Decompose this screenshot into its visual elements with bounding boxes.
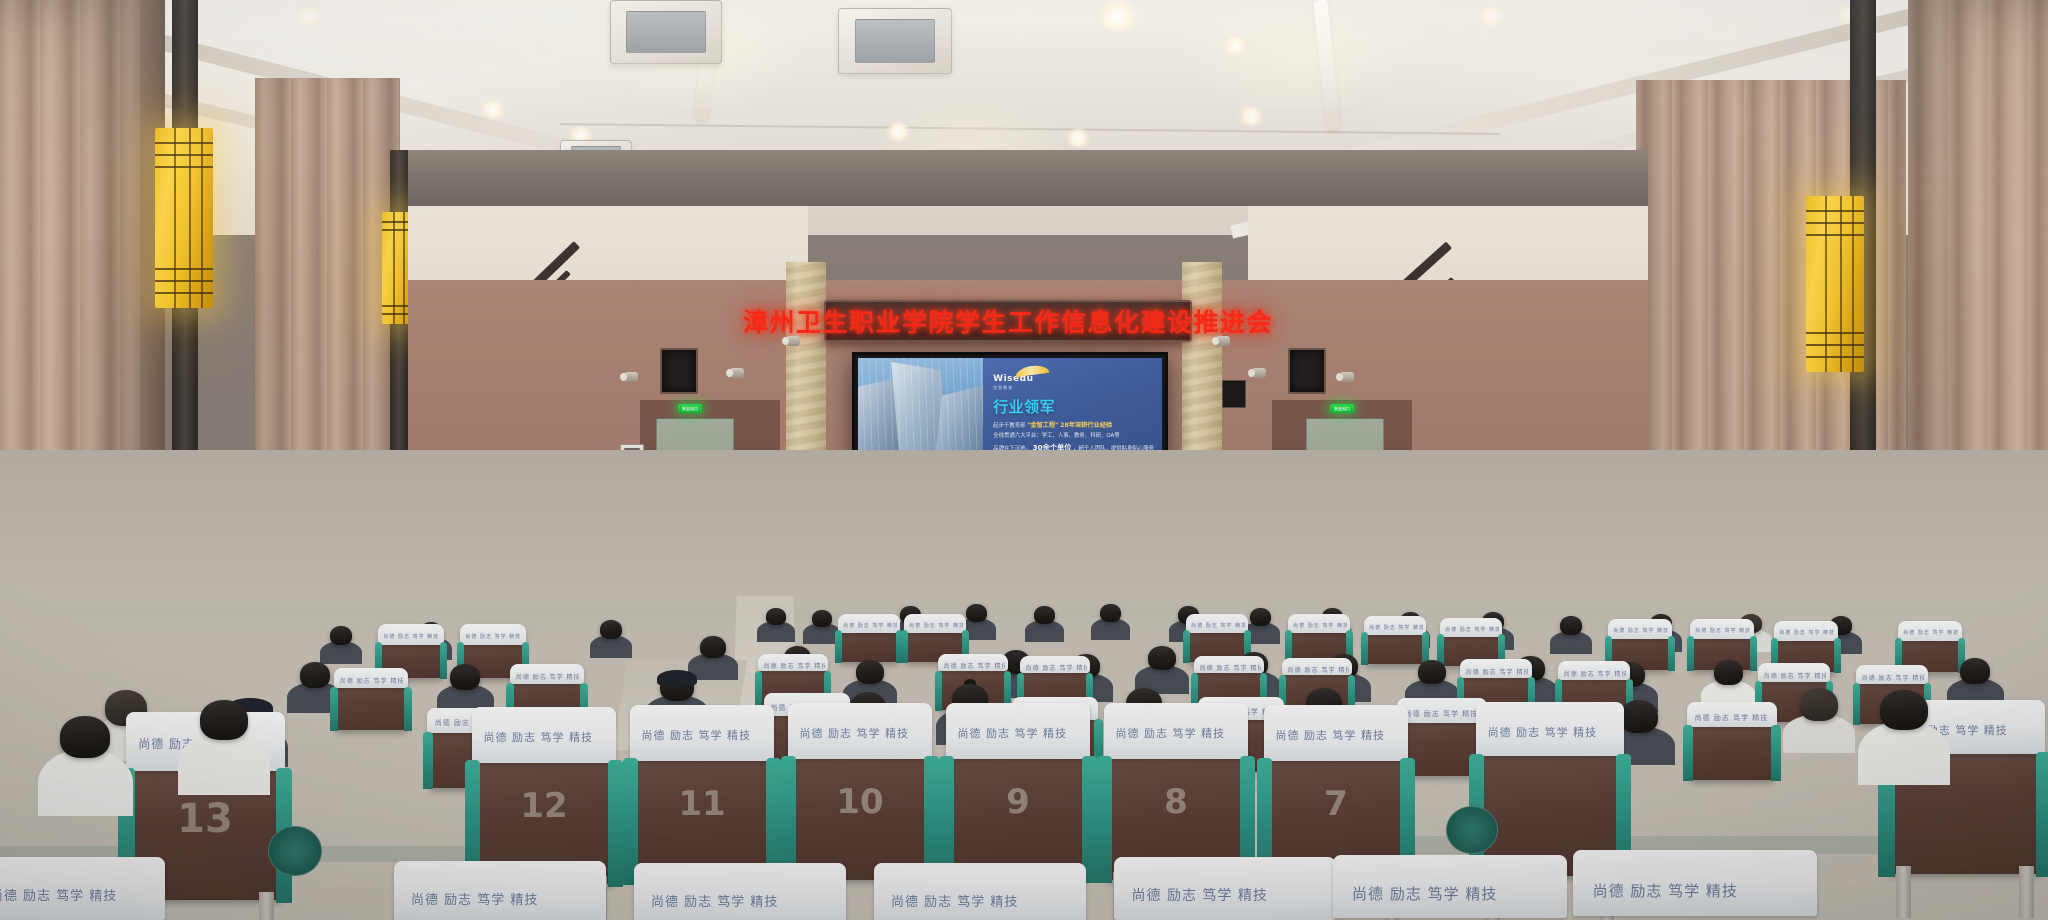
seat-foreground-6[interactable]: 尚德 励志 笃学 精技	[1340, 860, 1560, 920]
audience-person	[1034, 606, 1055, 624]
seat-plaque	[268, 826, 322, 876]
audience-person-front-left-2	[60, 716, 110, 758]
slide-bullet-1: 起步于教育部 "金智工程" 28年深耕行业经验	[993, 423, 1154, 430]
seat-10[interactable]: 尚德 励志 笃学 精技 10	[792, 748, 928, 880]
exit-sign-left: 安全出口	[678, 404, 702, 413]
ceiling-downlight-5	[480, 100, 506, 120]
seat-foreground-1[interactable]: 尚德 励志 笃学 精技	[0, 862, 160, 920]
audience-person	[330, 626, 352, 645]
audience-person	[660, 672, 694, 701]
audience-person	[812, 610, 832, 627]
ceiling-ac-vent-1	[610, 0, 722, 64]
audience-person	[1148, 646, 1176, 670]
exit-sign-right: 安全出口	[1330, 404, 1354, 413]
audience-person	[1714, 660, 1743, 685]
led-banner: 漳州卫生职业学院学生工作信息化建设推进会	[824, 300, 1192, 342]
spot-lamp-right-2	[1340, 372, 1354, 382]
ceiling-downlight-10	[1478, 6, 1504, 26]
audience-person	[450, 664, 480, 690]
audience-person	[1250, 608, 1271, 626]
seat-foreground-2[interactable]: 尚德 励志 笃学 精技	[400, 866, 600, 920]
ceiling-downlight-7	[885, 122, 911, 142]
audience-person-front-right	[1880, 690, 1928, 730]
audience-person	[856, 660, 884, 684]
spot-lamp-pillar-right	[1216, 336, 1230, 346]
audience-person	[1418, 660, 1446, 684]
wall-speaker-right-2	[1222, 380, 1246, 408]
wall-ceiling-fascia	[408, 150, 1648, 206]
ceiling-downlight-9	[1238, 106, 1264, 126]
wall-speaker-right	[1288, 348, 1326, 394]
audience-person	[300, 662, 330, 688]
wisedu-wordmark-cn: 金智教育	[993, 385, 1013, 391]
wall-sconce-right-near[interactable]	[1806, 196, 1864, 372]
audience-person	[1100, 604, 1121, 622]
seat-near-mid[interactable]: 尚德 励志 笃学 精技	[1690, 722, 1774, 780]
audience-person	[1960, 658, 1990, 684]
ceiling-downlight-8	[1065, 128, 1091, 148]
audience-person	[600, 620, 622, 639]
seat-9[interactable]: 尚德 励志 笃学 精技 9	[950, 748, 1086, 880]
audience-person	[1800, 688, 1838, 721]
spot-lamp-left-2	[730, 368, 744, 378]
spot-lamp-left-1	[624, 372, 638, 382]
audience-person	[1620, 700, 1658, 733]
seat-foreground-4[interactable]: 尚德 励志 笃学 精技	[880, 868, 1080, 920]
seat-foreground-3[interactable]: 尚德 励志 笃学 精技	[640, 868, 840, 920]
wall-speaker-left	[660, 348, 698, 394]
audience-person-front-left	[200, 700, 248, 740]
led-banner-text: 漳州卫生职业学院学生工作信息化建设推进会	[743, 303, 1273, 339]
seat-plaque	[1446, 806, 1498, 854]
ceiling-ac-vent-2	[838, 8, 952, 74]
audience-person	[966, 604, 987, 622]
audience-person	[700, 636, 726, 658]
slide-bullet-2: 全线贯通六大平台：学工、人事、教务、科研、OA等	[993, 434, 1154, 440]
spot-lamp-right-1	[1252, 368, 1266, 378]
wisedu-logo: Wisedu 金智教育	[993, 366, 1154, 391]
ceiling-downlight-4	[1222, 36, 1248, 56]
audience-person	[766, 608, 786, 625]
wall-sconce-left-near[interactable]	[155, 128, 213, 308]
auditorium-photo: 漳州卫生职业学院学生工作信息化建设推进会 Wisedu 金智教育 行业	[0, 0, 2048, 920]
seat-foreground-5[interactable]: 尚德 励志 笃学 精技	[1120, 862, 1330, 920]
seat-mid[interactable]: 尚德 励志 笃学 精技	[336, 684, 406, 730]
seat-foreground-7[interactable]: 尚德 励志 笃学 精技	[1580, 856, 1810, 920]
slide-heading: 行业领军	[993, 396, 1154, 417]
seat-far-a[interactable]: 尚德 励志 笃学 精技	[840, 628, 898, 662]
audience-person	[1560, 616, 1582, 635]
seat-far-a[interactable]: 尚德 励志 笃学 精技	[1366, 630, 1424, 664]
spot-lamp-pillar-left	[786, 336, 800, 346]
ceiling-downlight-3	[1095, 0, 1141, 32]
